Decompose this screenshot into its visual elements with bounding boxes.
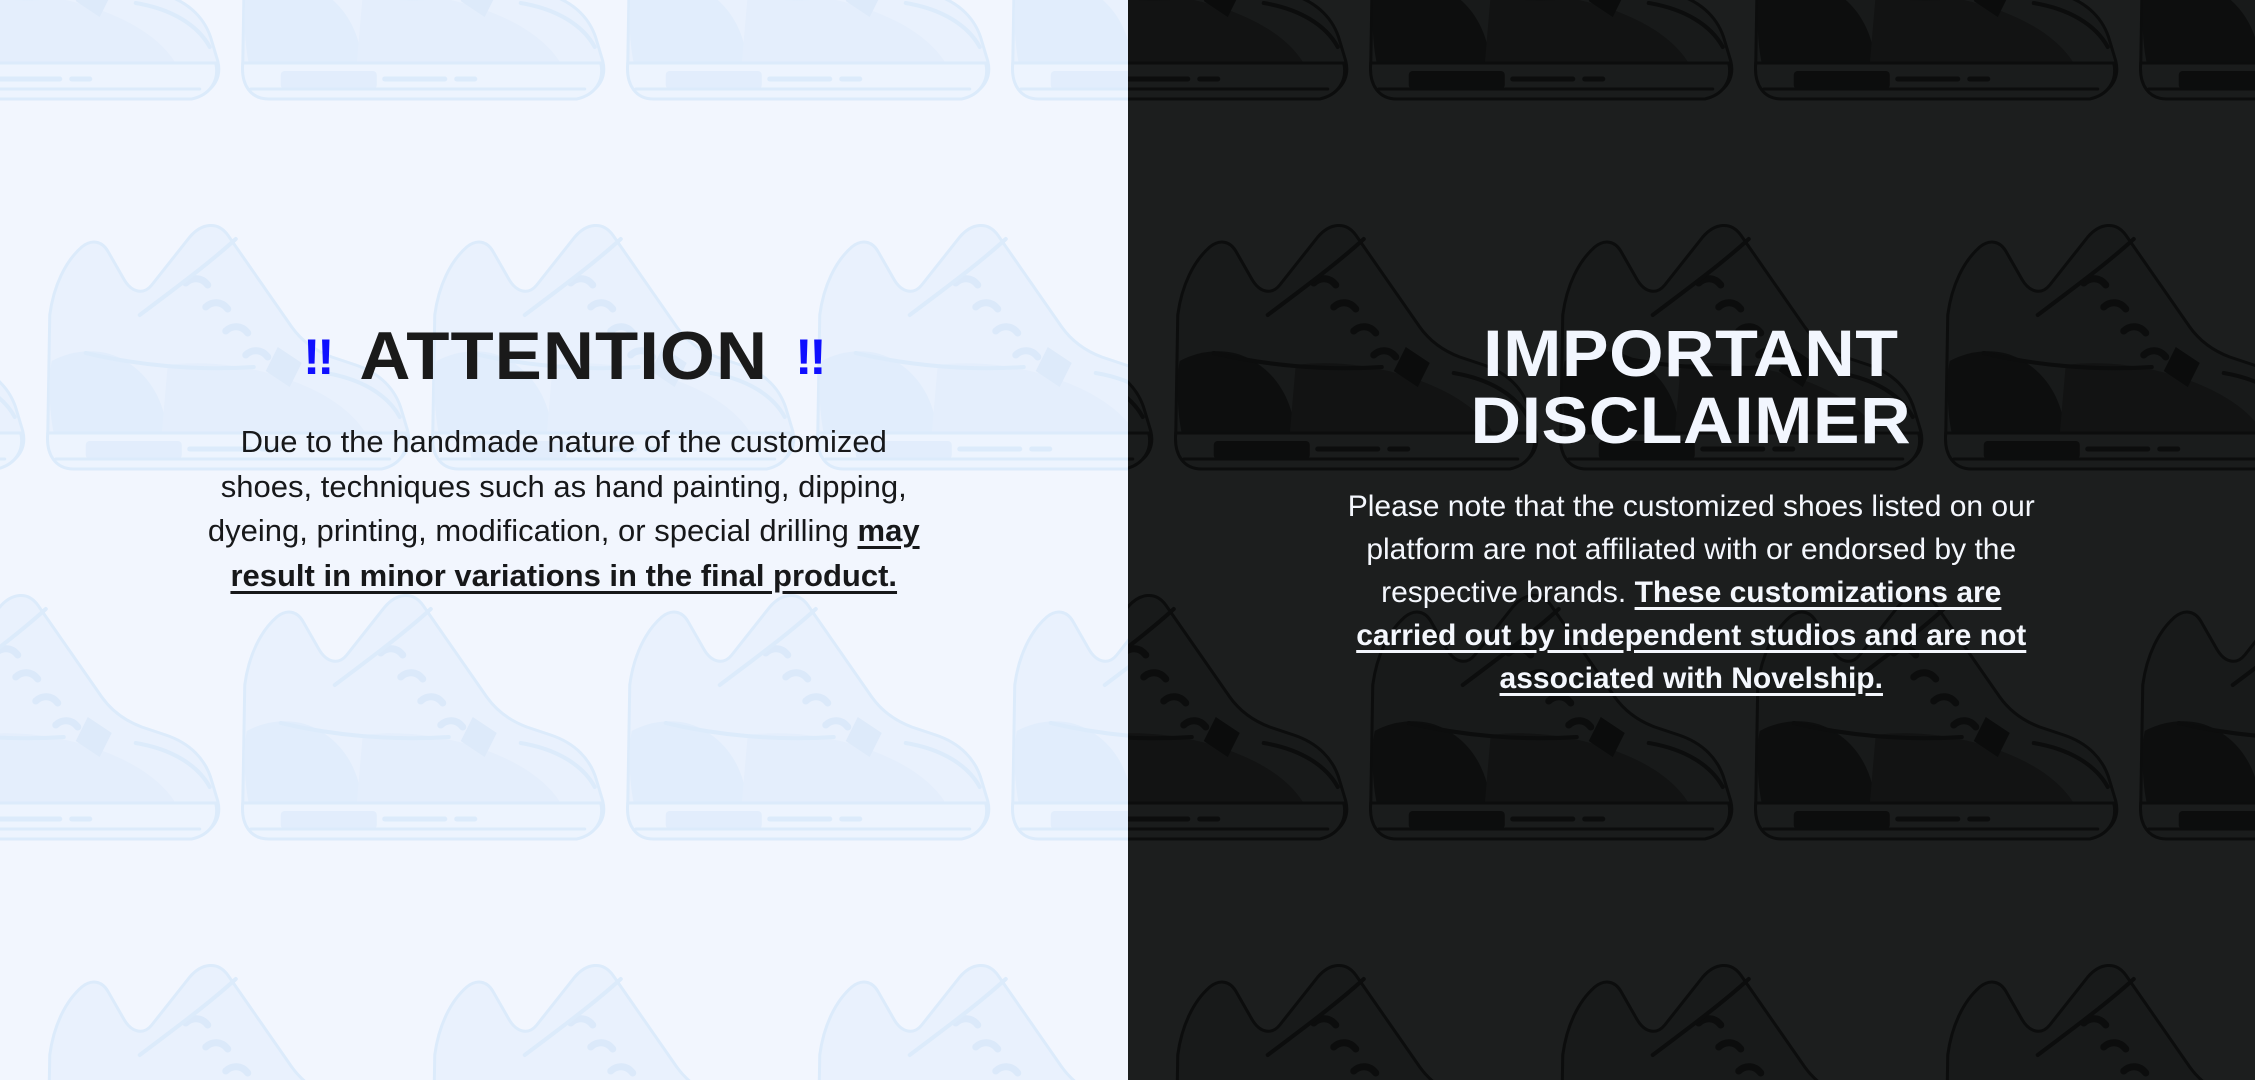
disclaimer-banner: ‼ATTENTION‼ Due to the handmade nature o… [0,0,2255,1080]
attention-body: Due to the handmade nature of the custom… [204,420,924,599]
disclaimer-panel: IMPORTANTDISCLAIMER Please note that the… [1128,0,2255,1080]
double-exclamation-icon-left: ‼ [303,332,332,382]
disclaimer-heading: IMPORTANTDISCLAIMER [1471,320,1912,455]
attention-body-plain: Due to the handmade nature of the custom… [208,424,907,548]
attention-content: ‼ATTENTION‼ Due to the handmade nature o… [0,322,1128,599]
disclaimer-content: IMPORTANTDISCLAIMER Please note that the… [1128,320,2255,701]
attention-heading-text: ATTENTION [359,318,768,394]
disclaimer-body: Please note that the customized shoes li… [1341,485,2041,701]
disclaimer-heading-line-2: DISCLAIMER [1471,383,1912,457]
attention-panel: ‼ATTENTION‼ Due to the handmade nature o… [0,0,1128,1080]
disclaimer-heading-line-1: IMPORTANT [1484,316,1899,390]
double-exclamation-icon-right: ‼ [795,332,824,382]
attention-heading: ‼ATTENTION‼ [303,322,824,390]
